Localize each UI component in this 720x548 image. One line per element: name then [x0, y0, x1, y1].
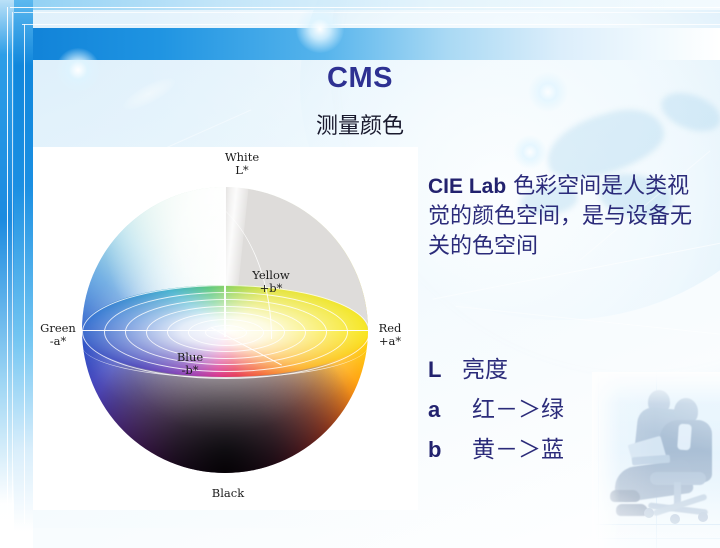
page-subtitle: 测量颜色 — [0, 108, 720, 140]
label-blue-axis: -b* — [182, 363, 199, 377]
frame-rule — [22, 24, 720, 25]
page-title: CMS — [0, 62, 720, 95]
label-white-axis: L* — [235, 163, 248, 177]
channel-key-a: a — [428, 397, 462, 423]
description-term: CIE Lab — [428, 175, 506, 198]
frame-rule — [24, 24, 25, 524]
label-red: Red +a* — [357, 322, 418, 348]
label-blue-text: Blue — [177, 350, 203, 364]
label-green-axis: -a* — [50, 334, 67, 348]
label-green-text: Green — [40, 321, 76, 335]
description-paragraph: CIE Lab 色彩空间是人类视觉的颜色空间，是与设备无关的色空间 — [428, 172, 704, 262]
list-item: b 黄－＞蓝 — [428, 430, 708, 464]
chair-caster — [670, 514, 680, 524]
description-block: CIE Lab 色彩空间是人类视觉的颜色空间，是与设备无关的色空间 — [428, 172, 704, 262]
channel-value-b: 黄－＞蓝 — [462, 430, 564, 464]
light-streak — [456, 306, 720, 335]
list-item: L 亮度 — [428, 350, 708, 384]
label-yellow-text: Yellow — [252, 268, 290, 282]
list-item: a 红－＞绿 — [428, 390, 708, 424]
label-white: White L* — [205, 151, 279, 177]
frame-rule — [14, 12, 720, 13]
office-chair-post — [674, 482, 681, 510]
frame-glow-spot — [296, 5, 344, 53]
lab-channel-list: L 亮度 a 红－＞绿 b 黄－＞蓝 — [428, 350, 708, 470]
label-black-text: Black — [212, 486, 244, 500]
channel-key-b: b — [428, 437, 462, 463]
label-red-text: Red — [379, 321, 402, 335]
slide-canvas: CMS 测量颜色 White L* — [0, 0, 720, 548]
office-chair-base — [648, 502, 708, 515]
label-red-axis: +a* — [379, 334, 401, 348]
frame-rule — [10, 7, 720, 8]
office-chair-seat — [650, 472, 706, 485]
photo-panel-line — [592, 538, 720, 539]
label-white-text: White — [225, 150, 259, 164]
shoe — [616, 504, 648, 516]
label-blue: Blue -b* — [155, 351, 225, 377]
frame-top-highlight — [0, 0, 720, 10]
label-yellow: Yellow +b* — [235, 269, 307, 295]
channel-value-a: 红－＞绿 — [462, 390, 564, 424]
cie-lab-figure: White L* Yellow +b* Green -a* Red +a* Bl… — [33, 147, 418, 510]
photo-panel-line — [592, 524, 720, 525]
office-chair-base — [652, 493, 707, 516]
label-yellow-axis: +b* — [260, 281, 283, 295]
glow-spot — [513, 135, 547, 169]
label-black: Black — [191, 487, 265, 500]
chair-caster — [644, 508, 654, 518]
chair-caster — [698, 512, 708, 522]
shoe — [610, 490, 640, 502]
frame-top-band — [0, 28, 720, 60]
channel-key-l: L — [428, 357, 462, 383]
label-green: Green -a* — [33, 322, 91, 348]
channel-value-l: 亮度 — [462, 350, 508, 384]
